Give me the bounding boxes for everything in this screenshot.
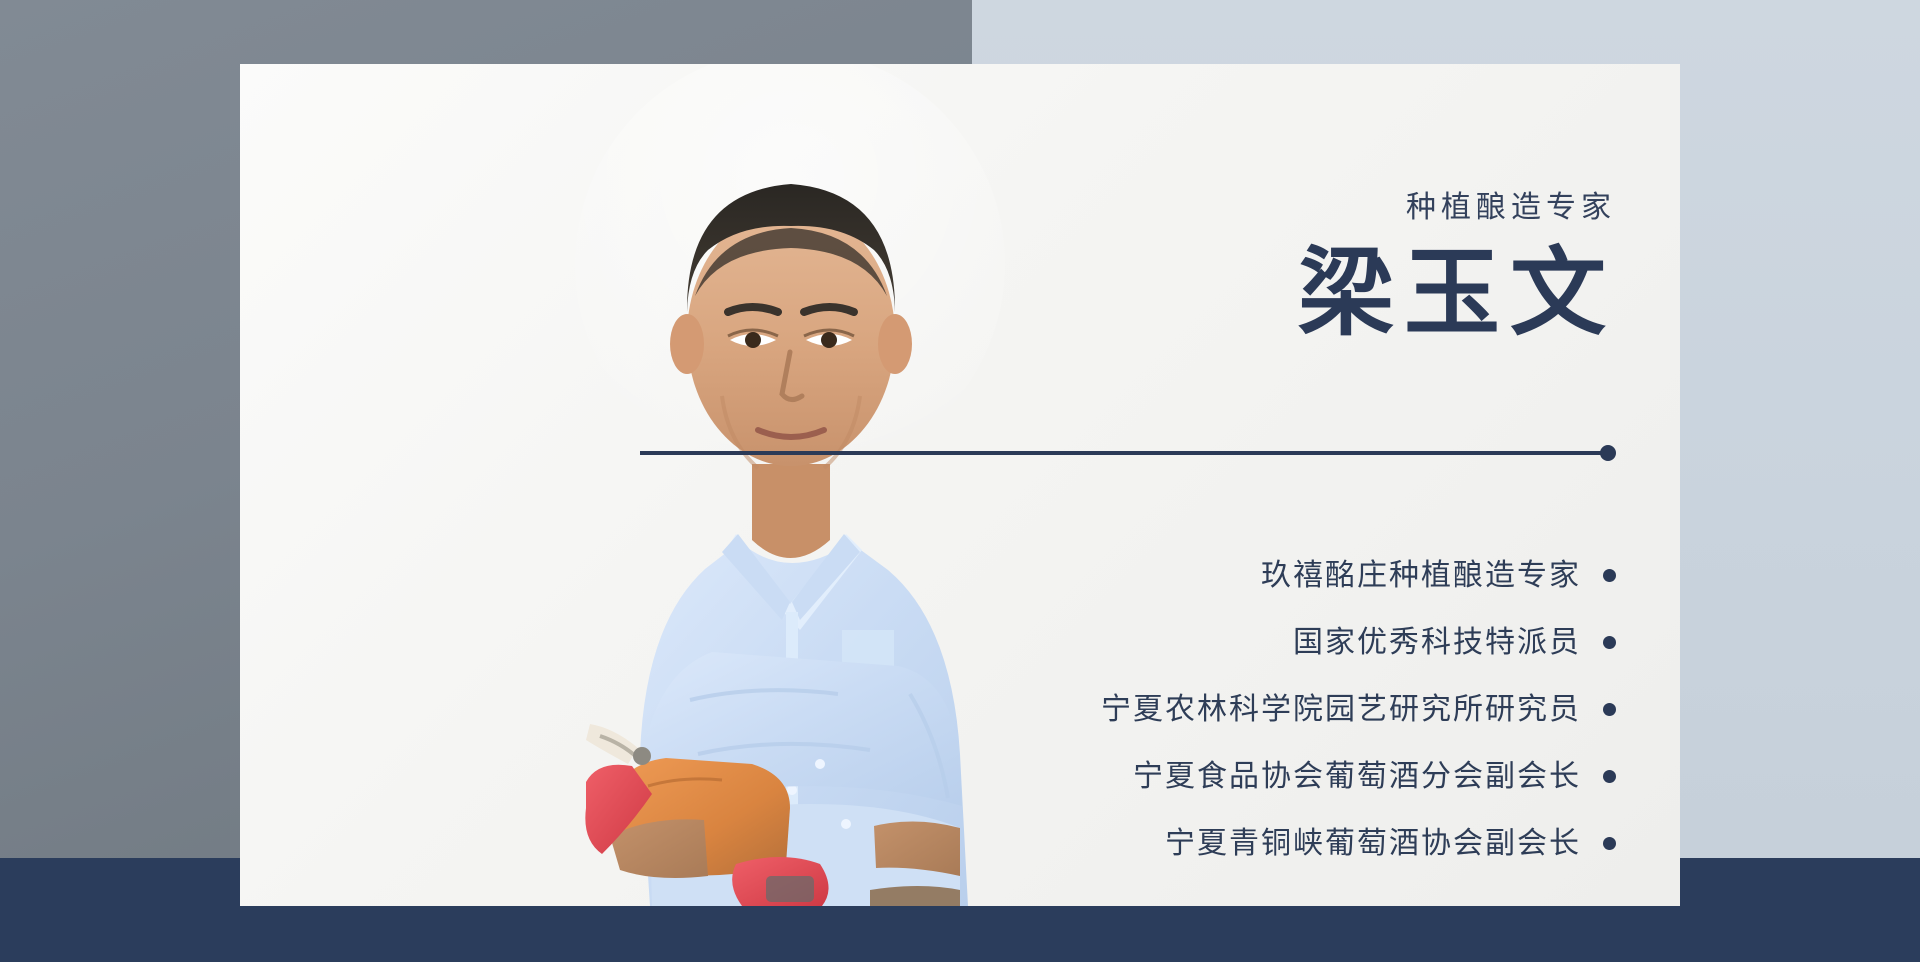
credential-text: 宁夏农林科学院园艺研究所研究员 xyxy=(1101,695,1581,725)
expert-role-eyebrow: 种植酿造专家 xyxy=(856,190,1616,226)
expert-heading-block: 种植酿造专家 梁玉文 xyxy=(856,190,1616,345)
expert-name: 梁玉文 xyxy=(856,244,1616,345)
credential-text: 宁夏食品协会葡萄酒分会副会长 xyxy=(1133,762,1581,792)
bullet-dot-icon xyxy=(1603,636,1616,649)
list-item: 国家优秀科技特派员 xyxy=(796,609,1616,676)
expert-profile-card: 种植酿造专家 梁玉文 玖禧酩庄种植酿造专家 国家优秀科技特派员 宁夏农林科学院园… xyxy=(240,64,1680,906)
credential-text: 玖禧酩庄种植酿造专家 xyxy=(1261,561,1581,591)
bullet-dot-icon xyxy=(1603,770,1616,783)
credential-text: 国家优秀科技特派员 xyxy=(1293,628,1581,658)
divider-end-dot-icon xyxy=(1600,445,1616,461)
credentials-list: 玖禧酩庄种植酿造专家 国家优秀科技特派员 宁夏农林科学院园艺研究所研究员 宁夏食… xyxy=(796,542,1616,877)
background-white-strip xyxy=(0,962,1920,970)
bullet-dot-icon xyxy=(1603,569,1616,582)
list-item: 宁夏食品协会葡萄酒分会副会长 xyxy=(796,743,1616,810)
list-item: 玖禧酩庄种植酿造专家 xyxy=(796,542,1616,609)
poster-canvas: 种植酿造专家 梁玉文 玖禧酩庄种植酿造专家 国家优秀科技特派员 宁夏农林科学院园… xyxy=(0,0,1920,970)
bullet-dot-icon xyxy=(1603,703,1616,716)
heading-divider xyxy=(640,445,1616,461)
divider-line xyxy=(640,451,1602,455)
list-item: 宁夏农林科学院园艺研究所研究员 xyxy=(796,676,1616,743)
list-item: 宁夏青铜峡葡萄酒协会副会长 xyxy=(796,810,1616,877)
credential-text: 宁夏青铜峡葡萄酒协会副会长 xyxy=(1165,829,1581,859)
bullet-dot-icon xyxy=(1603,837,1616,850)
